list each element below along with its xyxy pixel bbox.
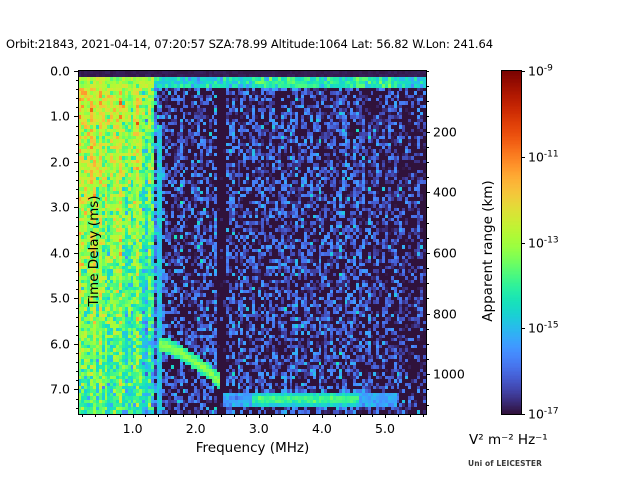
x-tick-major bbox=[322, 414, 323, 418]
y-tick-major bbox=[74, 207, 78, 208]
y-tick-minor bbox=[76, 235, 79, 236]
y-tick-major bbox=[74, 162, 78, 163]
y2-tick-minor bbox=[426, 344, 429, 345]
y2-tick-minor bbox=[426, 101, 429, 102]
x-tick-label: 2.0 bbox=[186, 421, 206, 436]
y-tick-major bbox=[74, 344, 78, 345]
x-tick-minor bbox=[284, 414, 285, 417]
x-tick-minor bbox=[95, 414, 96, 417]
y-tick-minor bbox=[76, 217, 79, 218]
y-tick-minor bbox=[76, 271, 79, 272]
y-tick-major bbox=[74, 71, 78, 72]
y-tick-label: 2.0 bbox=[26, 154, 70, 169]
institution-footer: Uni of LEICESTER bbox=[468, 459, 542, 468]
y-tick-minor bbox=[76, 98, 79, 99]
x-tick-minor bbox=[410, 414, 411, 417]
y2-tick-minor bbox=[426, 405, 429, 406]
y-tick-minor bbox=[76, 189, 79, 190]
y-tick-minor bbox=[76, 335, 79, 336]
colorbar-tick bbox=[521, 243, 525, 244]
y-tick-minor bbox=[76, 362, 79, 363]
y2-tick-minor bbox=[426, 162, 429, 163]
y2-tick-minor bbox=[426, 298, 429, 299]
x-tick-label: 3.0 bbox=[249, 421, 269, 436]
x-tick-minor bbox=[372, 414, 373, 417]
y2-tick-minor bbox=[426, 147, 429, 148]
y2-tick-major bbox=[426, 374, 430, 375]
colorbar-gradient bbox=[502, 71, 521, 414]
plot-title: Orbit:21843, 2021-04-14, 07:20:57 SZA:78… bbox=[6, 37, 493, 51]
y-tick-minor bbox=[76, 262, 79, 263]
x-tick-minor bbox=[183, 414, 184, 417]
y2-tick-minor bbox=[426, 283, 429, 284]
colorbar-tick bbox=[521, 328, 525, 329]
y-tick-minor bbox=[76, 89, 79, 90]
y-tick-minor bbox=[76, 171, 79, 172]
y-tick-minor bbox=[76, 180, 79, 181]
x-tick-minor bbox=[170, 414, 171, 417]
colorbar-tick bbox=[521, 157, 525, 158]
y-tick-minor bbox=[76, 326, 79, 327]
y-tick-label: 7.0 bbox=[26, 382, 70, 397]
y-tick-minor bbox=[76, 226, 79, 227]
x-tick-major bbox=[196, 414, 197, 418]
y2-tick-label: 600 bbox=[433, 245, 457, 260]
y-tick-label: 5.0 bbox=[26, 291, 70, 306]
y2-tick-minor bbox=[426, 71, 429, 72]
y2-tick-label: 800 bbox=[433, 306, 457, 321]
y2-tick-minor bbox=[426, 86, 429, 87]
y2-tick-major bbox=[426, 314, 430, 315]
colorbar-tick bbox=[521, 414, 525, 415]
x-tick-major bbox=[259, 414, 260, 418]
y2-tick-minor bbox=[426, 207, 429, 208]
y2-tick-minor bbox=[426, 329, 429, 330]
x-tick-minor bbox=[120, 414, 121, 417]
y2-tick-label: 200 bbox=[433, 124, 457, 139]
colorbar-tick-label: 10-17 bbox=[528, 407, 559, 422]
x-tick-minor bbox=[398, 414, 399, 417]
x-tick-minor bbox=[107, 414, 108, 417]
y2-tick-major bbox=[426, 253, 430, 254]
y-tick-minor bbox=[76, 308, 79, 309]
y-tick-minor bbox=[76, 399, 79, 400]
ionogram-heatmap-plot bbox=[78, 70, 427, 415]
x-tick-minor bbox=[297, 414, 298, 417]
x-tick-minor bbox=[360, 414, 361, 417]
y2-tick-major bbox=[426, 132, 430, 133]
colorbar-tick-label: 10-13 bbox=[528, 235, 559, 250]
y-tick-minor bbox=[76, 317, 79, 318]
y-tick-label: 0.0 bbox=[26, 64, 70, 79]
y-tick-minor bbox=[76, 153, 79, 154]
y-tick-minor bbox=[76, 126, 79, 127]
colorbar-tick bbox=[521, 71, 525, 72]
y2-tick-minor bbox=[426, 359, 429, 360]
y-tick-minor bbox=[76, 380, 79, 381]
y2-tick-minor bbox=[426, 177, 429, 178]
colorbar-units-label: V² m⁻² Hz⁻¹ bbox=[469, 432, 548, 448]
y-tick-minor bbox=[76, 244, 79, 245]
x-tick-minor bbox=[246, 414, 247, 417]
y-tick-major bbox=[74, 298, 78, 299]
x-tick-minor bbox=[234, 414, 235, 417]
y-tick-minor bbox=[76, 289, 79, 290]
heatmap-canvas bbox=[79, 71, 426, 414]
y-tick-minor bbox=[76, 135, 79, 136]
y-axis-label: Time Delay (ms) bbox=[86, 151, 102, 351]
x-tick-minor bbox=[309, 414, 310, 417]
y2-tick-label: 1000 bbox=[433, 367, 465, 382]
y-tick-label: 4.0 bbox=[26, 245, 70, 260]
x-tick-minor bbox=[208, 414, 209, 417]
colorbar-tick-label: 10-15 bbox=[528, 321, 559, 336]
y-tick-minor bbox=[76, 280, 79, 281]
y-tick-minor bbox=[76, 107, 79, 108]
x-tick-minor bbox=[423, 414, 424, 417]
y-tick-minor bbox=[76, 144, 79, 145]
y-tick-major bbox=[74, 116, 78, 117]
y2-tick-minor bbox=[426, 389, 429, 390]
y2-tick-minor bbox=[426, 116, 429, 117]
y-axis-right-label: Apparent range (km) bbox=[480, 151, 496, 351]
y-tick-minor bbox=[76, 371, 79, 372]
x-tick-minor bbox=[82, 414, 83, 417]
x-tick-minor bbox=[145, 414, 146, 417]
x-tick-minor bbox=[385, 414, 386, 417]
y-tick-minor bbox=[76, 408, 79, 409]
y2-tick-major bbox=[426, 192, 430, 193]
y-tick-major bbox=[74, 253, 78, 254]
y-tick-label: 1.0 bbox=[26, 109, 70, 124]
y2-tick-minor bbox=[426, 238, 429, 239]
x-tick-major bbox=[133, 414, 134, 418]
x-axis-label: Frequency (MHz) bbox=[78, 440, 427, 456]
y-tick-label: 3.0 bbox=[26, 200, 70, 215]
x-tick-minor bbox=[158, 414, 159, 417]
y-tick-minor bbox=[76, 353, 79, 354]
x-tick-label: 1.0 bbox=[123, 421, 143, 436]
x-tick-minor bbox=[221, 414, 222, 417]
y-tick-label: 6.0 bbox=[26, 336, 70, 351]
x-tick-minor bbox=[335, 414, 336, 417]
colorbar-tick-label: 10-11 bbox=[528, 149, 559, 164]
y2-tick-label: 400 bbox=[433, 185, 457, 200]
x-tick-label: 4.0 bbox=[312, 421, 332, 436]
x-tick-minor bbox=[271, 414, 272, 417]
x-tick-minor bbox=[347, 414, 348, 417]
colorbar bbox=[501, 70, 522, 415]
y2-tick-minor bbox=[426, 268, 429, 269]
x-tick-label: 5.0 bbox=[375, 421, 395, 436]
y-tick-major bbox=[74, 389, 78, 390]
y2-tick-minor bbox=[426, 223, 429, 224]
y-tick-minor bbox=[76, 80, 79, 81]
y-tick-minor bbox=[76, 198, 79, 199]
colorbar-tick-label: 10-9 bbox=[528, 64, 553, 79]
